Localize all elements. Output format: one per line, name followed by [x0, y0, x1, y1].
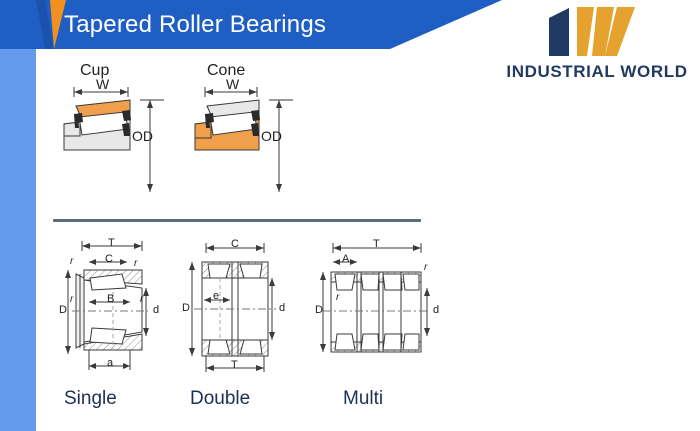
single-radius-label-r2s: r	[70, 256, 73, 267]
multi-label-D: D	[315, 304, 323, 316]
single-radius-label-r1s: r	[134, 258, 137, 269]
double-label-C: C	[231, 238, 239, 250]
page-title: Tapered Roller Bearings	[64, 11, 326, 39]
caption-single: Single	[64, 388, 117, 410]
double-label-d: d	[279, 302, 285, 314]
diagram-cone: Cone W OD	[185, 62, 305, 172]
single-label-T: T	[108, 237, 115, 249]
slide-page: Tapered Roller Bearings INDUSTRIAL WORLD…	[0, 0, 700, 431]
double-label-D: D	[182, 302, 190, 314]
single-label-D: D	[59, 304, 67, 316]
diagram-multi: T A D d r r	[315, 232, 445, 382]
caption-multi: Multi	[343, 388, 383, 410]
diagram-cup-width-label: W	[96, 76, 109, 92]
caption-double: Double	[190, 388, 250, 410]
single-label-B: B	[107, 293, 114, 305]
single-radius-label-r2a: r	[140, 294, 143, 305]
iw-logo-mark	[547, 6, 652, 58]
double-label-e: e	[213, 290, 219, 302]
double-label-T: T	[231, 359, 238, 371]
section-divider	[53, 219, 421, 222]
diagram-cup: Cup W OD	[52, 62, 172, 172]
diagram-single: T C B D d a r r r r	[58, 232, 173, 382]
diagram-cone-od-label: OD	[261, 128, 282, 144]
diagram-cup-od-label: OD	[132, 128, 153, 144]
single-label-C: C	[105, 253, 113, 265]
left-accent-strip	[0, 48, 36, 431]
company-name: INDUSTRIAL WORLD	[497, 62, 697, 82]
multi-label-d: d	[433, 304, 439, 316]
multi-label-T: T	[373, 238, 380, 250]
diagram-cone-width-label: W	[226, 76, 239, 92]
single-label-a: a	[107, 357, 113, 369]
multi-radius-label-r2s: r	[424, 262, 427, 273]
diagram-double: C e D d T	[180, 232, 295, 382]
single-label-d: d	[153, 304, 159, 316]
logo: INDUSTRIAL WORLD	[497, 6, 697, 88]
multi-radius-label-r1a: r	[336, 292, 339, 303]
multi-label-A: A	[342, 253, 349, 265]
single-radius-label-r1a: r	[70, 294, 73, 305]
